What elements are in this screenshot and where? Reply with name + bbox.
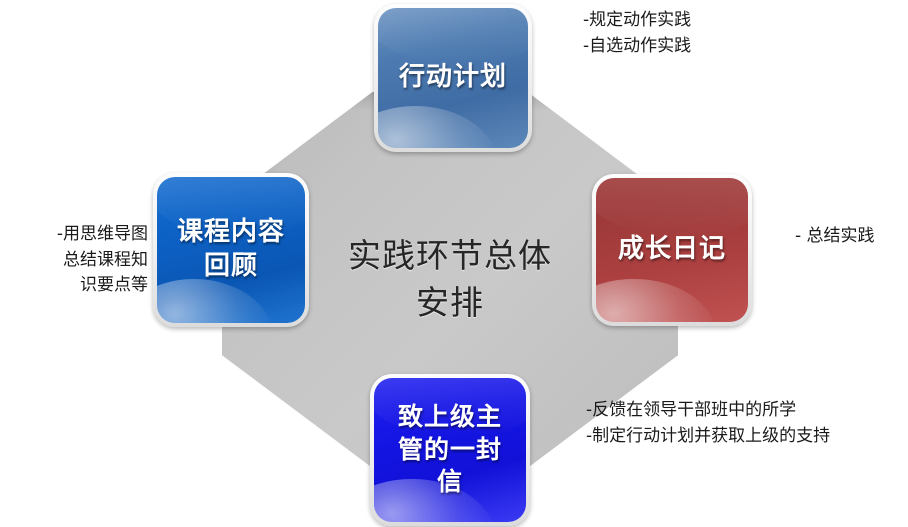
annotation-action-plan: -规定动作实践 -自选动作实践: [583, 8, 691, 59]
node-course-review[interactable]: 课程内容 回顾: [153, 173, 309, 327]
node-growth-diary-surface: 成长日记: [596, 178, 748, 322]
node-letter-to-supervisor-label: 致上级主 管的一封 信: [398, 401, 502, 499]
node-course-review-label: 课程内容 回顾: [177, 216, 285, 284]
node-letter-to-supervisor-surface: 致上级主 管的一封 信: [374, 378, 526, 522]
annotation-course-review: -用思维导图 总结课程知 识要点等: [8, 222, 148, 299]
node-action-plan[interactable]: 行动计划: [374, 4, 532, 152]
center-label: 实践环节总体 安排: [300, 233, 600, 327]
node-action-plan-label: 行动计划: [399, 61, 507, 95]
diagram-canvas: 实践环节总体 安排 行动计划 课程内容 回顾 成长日记 致上级主 管的一封 信 …: [0, 0, 908, 527]
node-letter-to-supervisor[interactable]: 致上级主 管的一封 信: [370, 374, 530, 526]
node-course-review-surface: 课程内容 回顾: [157, 177, 305, 323]
annotation-growth-diary: - 总结实践: [795, 224, 875, 250]
annotation-letter-to-supervisor: -反馈在领导干部班中的所学 -制定行动计划并获取上级的支持: [586, 398, 830, 449]
node-growth-diary-label: 成长日记: [618, 233, 726, 267]
node-growth-diary[interactable]: 成长日记: [592, 174, 752, 326]
node-action-plan-surface: 行动计划: [378, 8, 528, 148]
